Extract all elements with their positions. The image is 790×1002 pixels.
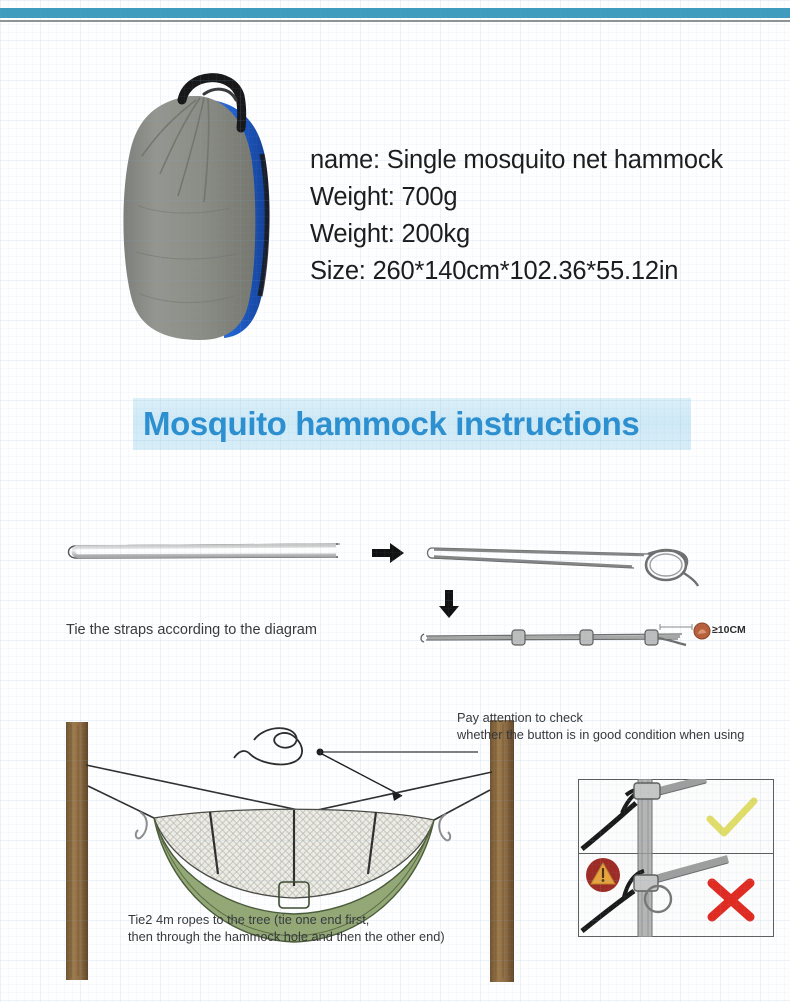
tie-ropes-line2: then through the hammock hole and then t…	[128, 928, 445, 945]
product-infographic-page: name: Single mosquito net hammock Weight…	[0, 0, 790, 1002]
spec-name: name: Single mosquito net hammock	[310, 142, 780, 179]
button-check-note: Pay attention to check whether the butto…	[457, 709, 744, 743]
button-check-note-line1: Pay attention to check	[457, 709, 744, 726]
top-accent-bar	[0, 8, 790, 18]
instructions-title: Mosquito hammock instructions	[143, 400, 703, 448]
buckle	[634, 783, 660, 799]
spec-size: Size: 260*140cm*102.36*55.12in	[310, 253, 780, 290]
min-length-badge: ≥10CM	[712, 624, 746, 636]
incorrect-buckle-panel	[578, 853, 774, 937]
tie-ropes-line1: Tie2 4m ropes to the tree (tie one end f…	[128, 911, 445, 928]
spec-weight: Weight: 700g	[310, 179, 780, 216]
product-spec-list: name: Single mosquito net hammock Weight…	[310, 142, 780, 290]
strap-loop-diagram	[420, 532, 710, 588]
correct-buckle-panel	[578, 779, 774, 857]
strap-instruction-caption: Tie the straps according to the diagram	[66, 622, 317, 638]
strap-knots-diagram	[420, 620, 705, 654]
bag-body	[123, 96, 255, 340]
button-check-note-line2: whether the button is in good condition …	[457, 726, 744, 743]
knot-circle-icon	[693, 622, 711, 640]
arrow-right-icon	[370, 540, 406, 566]
strap-folded-diagram	[62, 536, 352, 576]
spec-capacity: Weight: 200kg	[310, 216, 780, 253]
tree-right	[490, 720, 514, 982]
tie-ropes-caption: Tie2 4m ropes to the tree (tie one end f…	[128, 911, 445, 945]
top-divider-rule	[0, 20, 790, 22]
ridge-line	[86, 765, 492, 812]
stuff-sack-photo	[104, 56, 304, 346]
rope-sketch	[234, 728, 302, 764]
arrow-down-icon	[437, 588, 461, 620]
tree-left	[66, 722, 88, 980]
